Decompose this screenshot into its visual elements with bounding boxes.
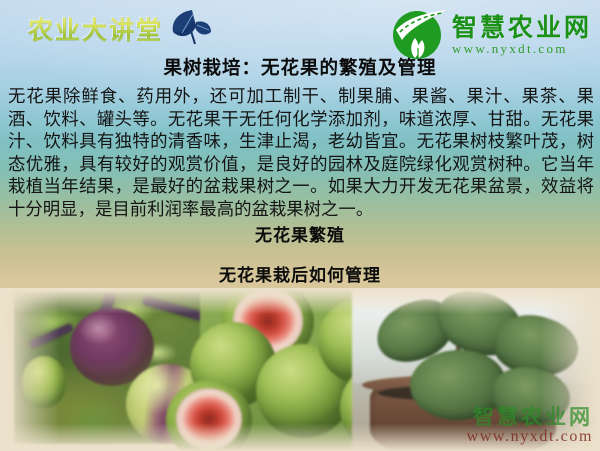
site-brand-title: 农业大讲堂 [28,11,163,47]
fig-photo-collage: 智慧农业网 www.nyxdt.com [0,288,600,451]
leaf-icon [168,6,214,48]
watermark-site-name: 智慧农业网 [467,406,593,428]
subheading-management: 无花果栽后如何管理 [0,261,600,286]
fig-flesh [176,388,241,450]
page-title: 果树栽培：无花果的繁殖及管理 [0,54,600,80]
photo-watermark: 智慧农业网 www.nyxdt.com [467,406,593,446]
watermark-site-url: www.nyxdt.com [467,429,593,446]
body-paragraph-block: 无花果除鲜食、药用外，还可加工制干、制果脯、果酱、果汁、果茶、果酒、饮料、罐头等… [8,86,594,222]
cut-fig [166,380,252,451]
subheading-propagation: 无花果繁殖 [0,221,600,246]
body-paragraph: 无花果除鲜食、药用外，还可加工制干、制果脯、果酱、果汁、果茶、果酒、饮料、罐头等… [8,86,594,222]
logo-site-name: 智慧农业网 [452,15,592,40]
green-fig-small [22,356,66,408]
slide-canvas: 农业大讲堂 智慧农业网 www.nyxdt.com 果树栽 [0,0,600,451]
